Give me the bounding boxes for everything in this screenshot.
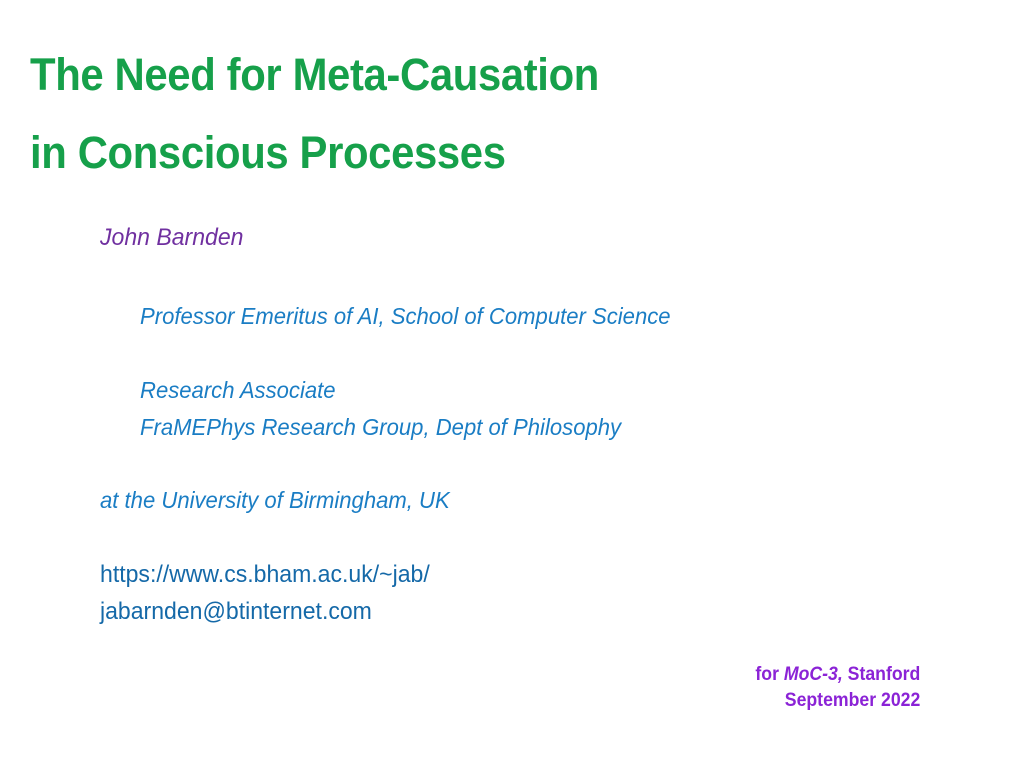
footer-date: September 2022 [755,688,920,714]
affiliation-line-research-associate: Research Associate [140,374,336,406]
footer-venue-location: Stanford [842,664,920,685]
website-url[interactable]: https://www.cs.bham.ac.uk/~jab/ [100,559,430,591]
email-address[interactable]: jabarnden@btinternet.com [100,596,372,628]
affiliation-line-professor: Professor Emeritus of AI, School of Comp… [140,300,671,332]
affiliation-line-framephys: FraMEPhys Research Group, Dept of Philos… [140,411,621,443]
presentation-slide: The Need for Meta-Causation in Conscious… [0,0,1024,768]
slide-title: The Need for Meta-Causation in Conscious… [30,36,930,192]
slide-footer: for MoC-3, Stanford September 2022 [755,662,920,714]
author-name: John Barnden [100,222,243,254]
title-line-1: The Need for Meta-Causation [30,36,867,114]
footer-prefix: for [755,664,783,685]
footer-venue-line: for MoC-3, Stanford [755,662,920,688]
footer-venue-emphasis: MoC-3, [784,664,843,685]
institution-line: at the University of Birmingham, UK [100,484,450,516]
title-line-2: in Conscious Processes [30,114,867,192]
